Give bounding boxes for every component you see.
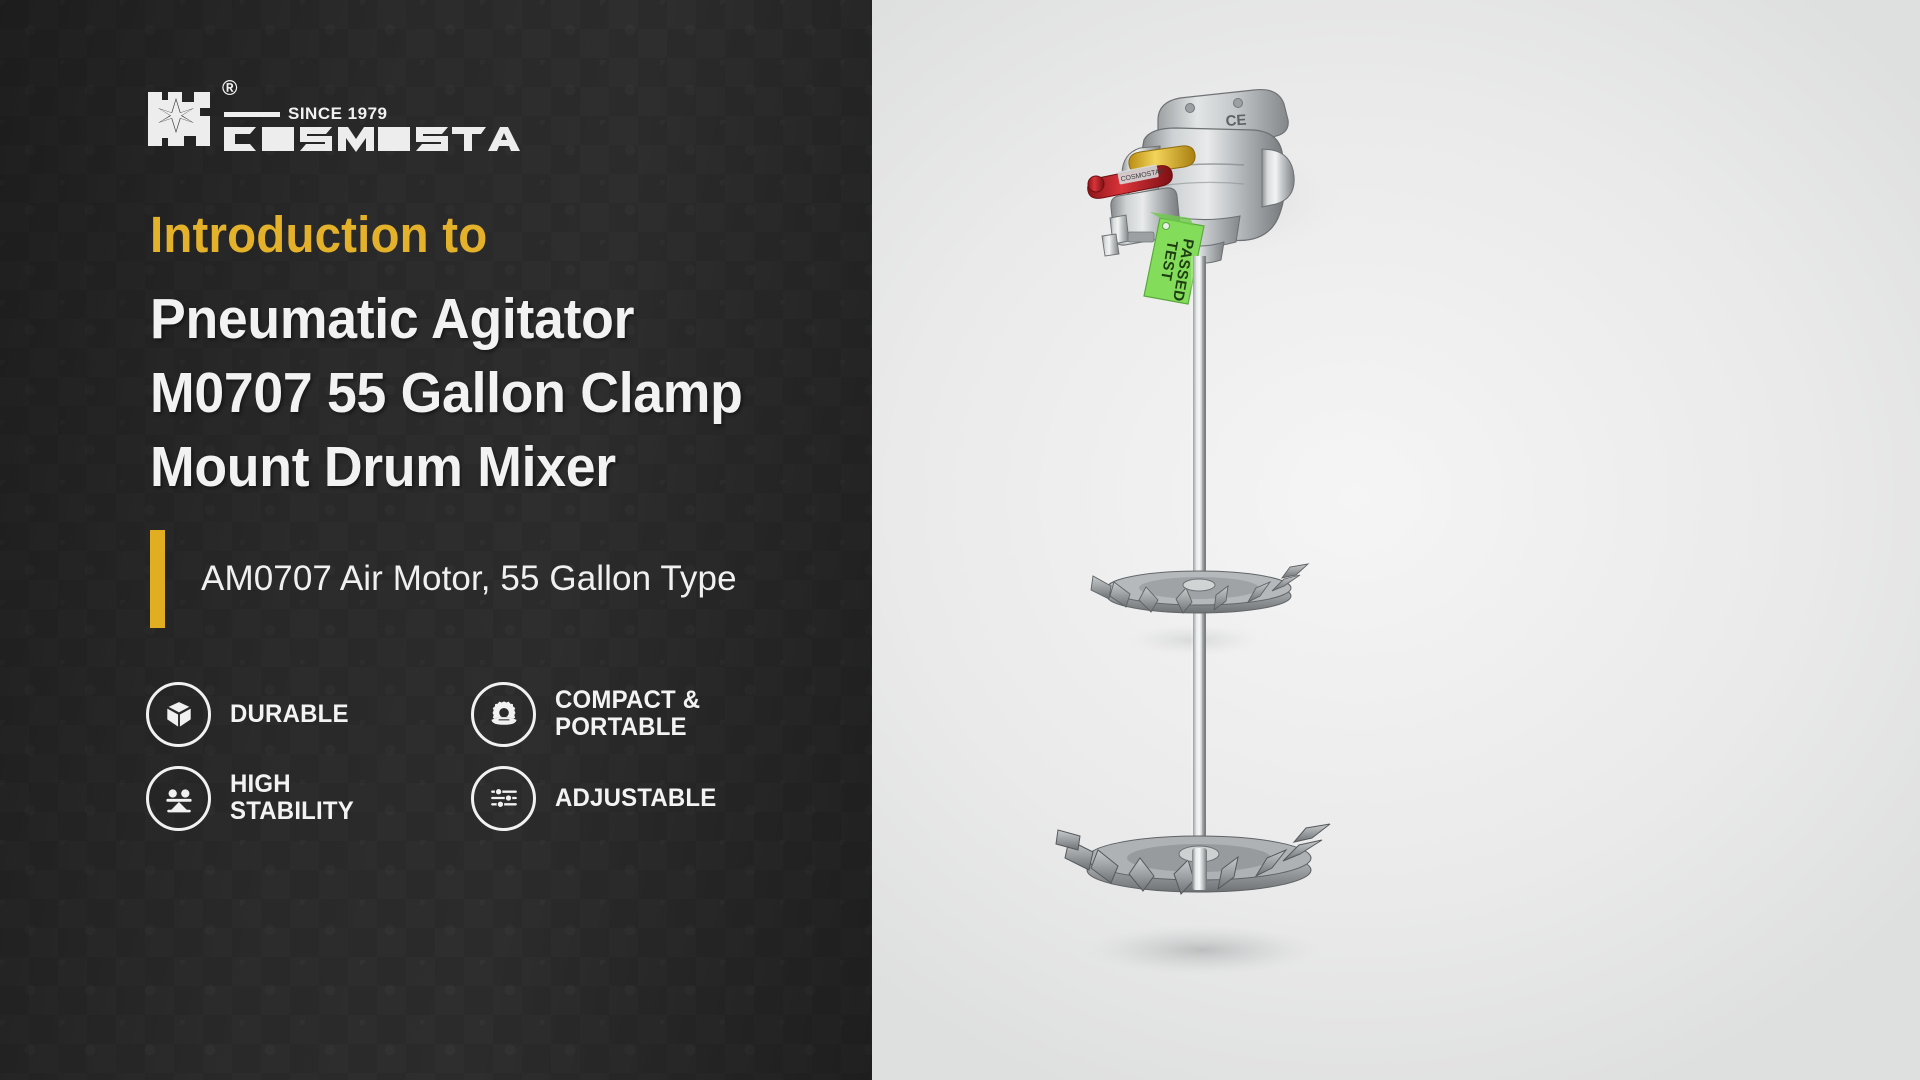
feature-label-compact-portable: COMPACT & PORTABLE: [555, 687, 700, 741]
since-line: SINCE 1979: [224, 104, 388, 124]
right-light-panel: CE COSMOSTAR: [872, 0, 1920, 1080]
ce-mark-label: CE: [1225, 112, 1247, 130]
registered-trademark-symbol: ®: [222, 78, 237, 99]
hs-star-logo-icon: [148, 84, 218, 146]
since-label: SINCE 1979: [288, 104, 388, 124]
feature-item-compact-portable: COMPACT & PORTABLE: [471, 672, 796, 756]
feature-list: DURABLE COMPACT & PORTABLE: [146, 672, 796, 840]
feature-item-durable: DURABLE: [146, 672, 471, 756]
feature-label-adjustable: ADJUSTABLE: [555, 785, 716, 812]
subtitle-row: AM0707 Air Motor, 55 Gallon Type: [150, 530, 737, 628]
sliders-icon: [471, 766, 536, 831]
title-line-2: M0707 55 Gallon Clamp: [150, 356, 827, 430]
gear-in-hand-icon: [471, 682, 536, 747]
slide-canvas: CE COSMOSTAR: [0, 0, 1920, 1080]
feature-label-high-stability: HIGH STABILITY: [230, 771, 354, 825]
title-line-1: Pneumatic Agitator: [150, 282, 827, 356]
stability-base-icon: [146, 766, 211, 831]
brand-logo[interactable]: ® SINCE 1979: [148, 78, 568, 150]
feature-item-high-stability: HIGH STABILITY: [146, 756, 471, 840]
upper-impeller: [1091, 564, 1308, 613]
cosmostar-wordmark: [222, 122, 522, 156]
title-line-3: Mount Drum Mixer: [150, 430, 827, 504]
cube-shield-icon: [146, 682, 211, 747]
page-title: Pneumatic Agitator M0707 55 Gallon Clamp…: [150, 282, 870, 504]
feature-label-durable: DURABLE: [230, 701, 349, 728]
subtitle-accent-bar: [150, 530, 165, 628]
product-image-pneumatic-drum-mixer: CE COSMOSTAR: [872, 0, 1920, 1080]
content-column: ® SINCE 1979: [0, 0, 872, 1080]
since-rule: [224, 112, 280, 117]
feature-item-adjustable: ADJUSTABLE: [471, 756, 796, 840]
eyebrow-heading: Introduction to: [150, 205, 487, 264]
subtitle-text: AM0707 Air Motor, 55 Gallon Type: [201, 559, 737, 599]
